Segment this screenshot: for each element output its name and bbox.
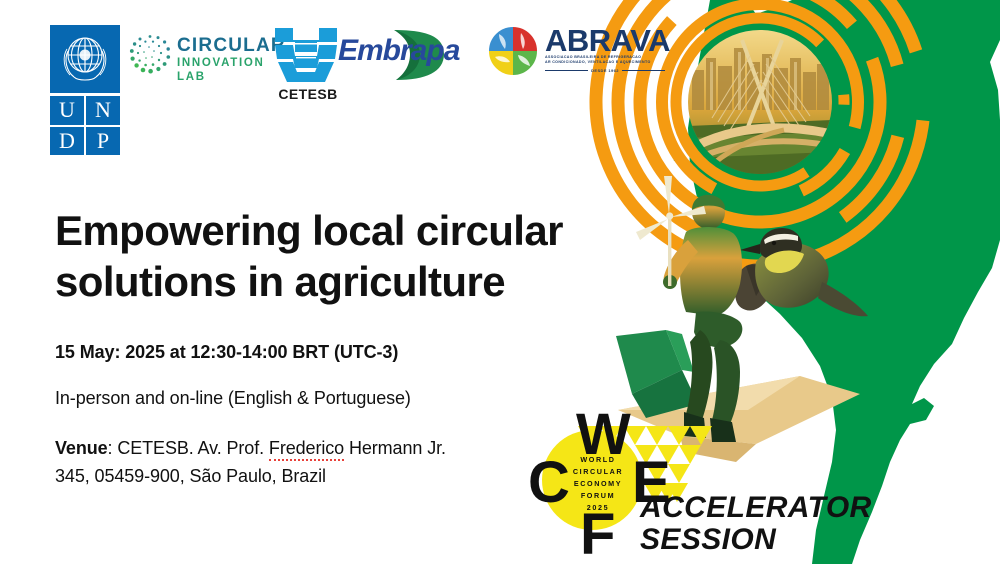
- undp-letter-u: U: [50, 96, 84, 125]
- venue-misspelled-word: Frederico: [269, 438, 344, 461]
- event-poster: U N D P: [0, 0, 1000, 564]
- partner-logo-bar: U N D P: [0, 0, 680, 160]
- logo-undp: U N D P: [50, 25, 120, 155]
- svg-text:FORUM: FORUM: [581, 491, 615, 500]
- accelerator-line-2: SESSION: [640, 524, 872, 556]
- un-globe-laurel-emblem: [50, 25, 120, 93]
- abrava-subtitle-line-2: AR CONDICIONADO, VENTILACAO E AQUECIMENT…: [545, 60, 665, 65]
- abrava-elements-circle-icon: [487, 25, 539, 77]
- venue-label: Venue: [55, 438, 108, 458]
- page-title: Empowering local circular solutions in a…: [55, 205, 695, 307]
- accelerator-session-label: ACCELERATOR SESSION: [640, 492, 872, 556]
- undp-letters: U N D P: [50, 96, 120, 155]
- embrapa-wordmark: Embrapa: [338, 34, 459, 68]
- wcef-letter-w: W: [576, 408, 631, 467]
- wcef-letter-f: F: [580, 502, 615, 564]
- venue-text-b: Hermann Jr.: [344, 438, 446, 458]
- abrava-rule-right: [622, 70, 665, 71]
- venue-text-a: : CETESB. Av. Prof.: [108, 438, 269, 458]
- dotted-circle-icon: [127, 32, 173, 78]
- abrava-since-text: DESDE 1962: [591, 68, 619, 73]
- abrava-wordmark: ABRAVA: [545, 23, 670, 59]
- event-mode: In-person and on-line (English & Portugu…: [55, 388, 695, 409]
- undp-letter-n: N: [86, 96, 120, 125]
- logo-circular-innovation-lab: CIRCULAR INNOVATION LAB: [127, 30, 265, 82]
- title-line-1: Empowering local circular: [55, 205, 695, 256]
- svg-text:CIRCULAR: CIRCULAR: [573, 467, 623, 476]
- undp-letter-d: D: [50, 127, 84, 156]
- cetesb-wordmark: CETESB: [268, 86, 348, 102]
- abrava-rule-left: [545, 70, 588, 71]
- cetesb-v-icon: [273, 26, 339, 84]
- event-datetime: 15 May: 2025 at 12:30-14:00 BRT (UTC-3): [55, 342, 695, 363]
- abrava-subtitle: ASSOCIACAO BRASILEIRA DE REFRIGERACAO AR…: [545, 55, 665, 65]
- venue-line-2: 345, 05459-900, São Paulo, Brazil: [55, 466, 326, 486]
- title-line-2: solutions in agriculture: [55, 256, 695, 307]
- sao-paulo-bridge-photo: [688, 30, 832, 174]
- wcef-letter-c: C: [528, 450, 570, 515]
- accelerator-line-1: ACCELERATOR: [640, 492, 872, 524]
- event-venue: Venue: CETESB. Av. Prof. Frederico Herma…: [55, 434, 555, 490]
- undp-letter-p: P: [86, 127, 120, 156]
- logo-embrapa: Embrapa: [338, 30, 478, 80]
- logo-cetesb: CETESB: [268, 26, 348, 106]
- svg-text:ECONOMY: ECONOMY: [574, 479, 622, 488]
- abrava-since-row: DESDE 1962: [545, 68, 665, 73]
- logo-abrava: ABRAVA ASSOCIACAO BRASILEIRA DE REFRIGER…: [487, 23, 667, 83]
